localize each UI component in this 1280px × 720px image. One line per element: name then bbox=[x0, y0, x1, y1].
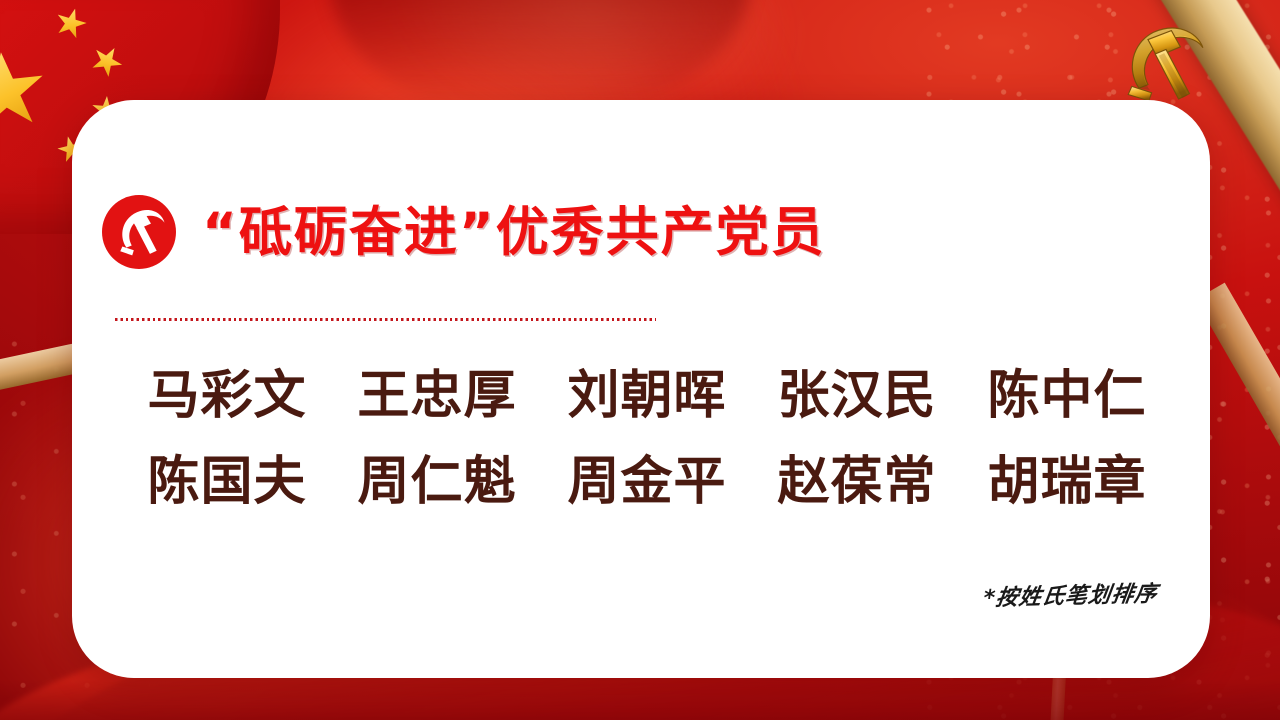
flag-star-large bbox=[0, 48, 48, 134]
honoree-name: 王忠厚 bbox=[332, 360, 542, 434]
name-row: 马彩文 王忠厚 刘朝晖 张汉民 陈中仁 bbox=[122, 360, 1172, 434]
flag-star-small-1 bbox=[52, 4, 89, 41]
honor-roll-slide: “砥砺奋进”优秀共产党员 马彩文 王忠厚 刘朝晖 张汉民 陈中仁 陈国夫 周仁魁… bbox=[0, 0, 1280, 720]
honoree-name: 张汉民 bbox=[752, 360, 962, 434]
honoree-name: 马彩文 bbox=[122, 360, 332, 434]
sort-order-footnote: *按姓氏笔划排序 bbox=[982, 576, 1160, 613]
bottom-edge-shade bbox=[0, 680, 1280, 720]
honoree-name: 周仁魁 bbox=[332, 446, 542, 520]
honoree-name: 周金平 bbox=[542, 446, 752, 520]
flag-star-small-2 bbox=[87, 41, 128, 82]
title-row: “砥砺奋进”优秀共产党员 bbox=[102, 195, 826, 269]
honoree-name: 胡瑞章 bbox=[962, 446, 1172, 520]
divider bbox=[115, 318, 656, 321]
honoree-name: 陈中仁 bbox=[962, 360, 1172, 434]
name-row: 陈国夫 周仁魁 周金平 赵葆常 胡瑞章 bbox=[122, 446, 1172, 520]
page-title: “砥砺奋进”优秀共产党员 bbox=[202, 206, 826, 259]
content-card: “砥砺奋进”优秀共产党员 马彩文 王忠厚 刘朝晖 张汉民 陈中仁 陈国夫 周仁魁… bbox=[72, 100, 1210, 678]
hammer-sickle-icon bbox=[102, 195, 176, 269]
honoree-name: 陈国夫 bbox=[122, 446, 332, 520]
hammer-sickle-gold-icon bbox=[1110, 18, 1222, 108]
honoree-name: 赵葆常 bbox=[752, 446, 962, 520]
honoree-name-list: 马彩文 王忠厚 刘朝晖 张汉民 陈中仁 陈国夫 周仁魁 周金平 赵葆常 胡瑞章 bbox=[122, 360, 1172, 532]
honoree-name: 刘朝晖 bbox=[542, 360, 752, 434]
